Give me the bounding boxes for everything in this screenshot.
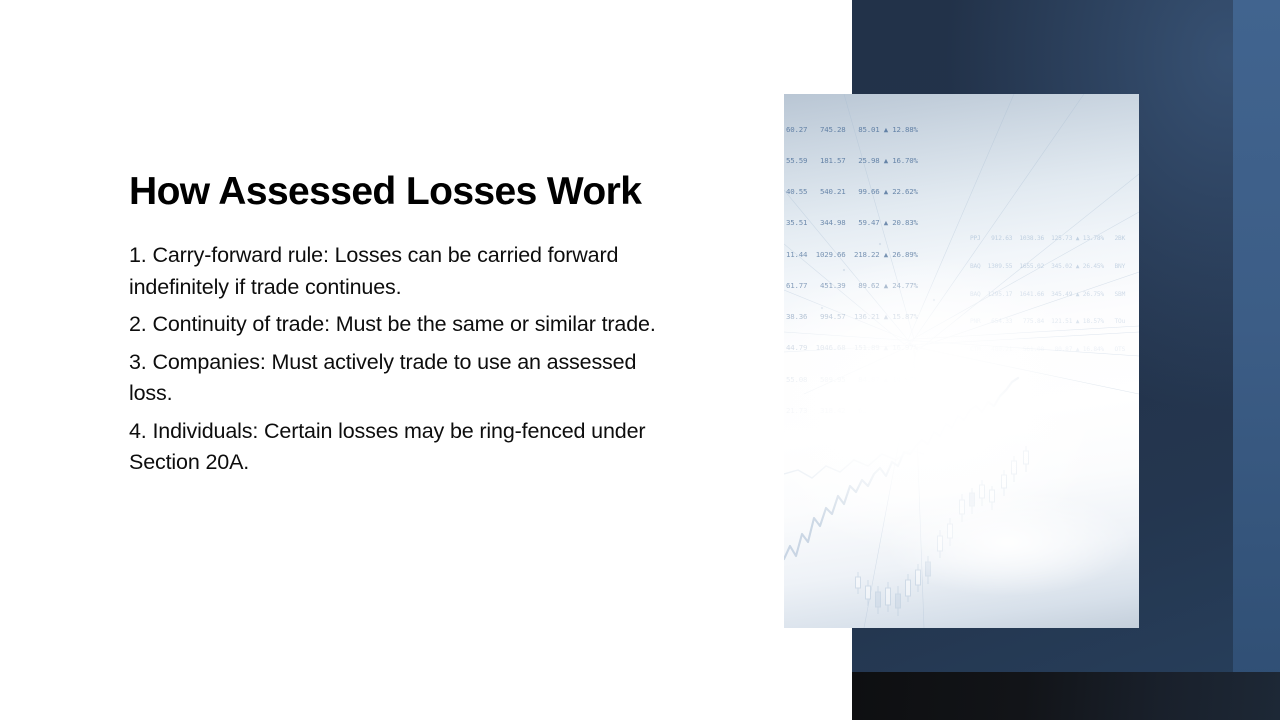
ticker-row: PPJ 912.63 1038.36 125.73 ▲ 13.78% 2BK	[970, 234, 1125, 243]
slide: 60.27 745.28 85.01 ▲ 12.88% 55.59 181.57…	[0, 0, 1280, 720]
ticker-row: 61.77 451.39 89.62 ▲ 24.77%	[786, 281, 918, 291]
panel-bottom-band	[852, 672, 1280, 720]
ticker-row: BAQ 1309.55 1655.02 345.02 ▲ 26.45% BNY	[970, 262, 1125, 271]
ticker-row: BAQ 1295.17 1641.66 345.49 ▲ 26.75% SBM	[970, 290, 1125, 299]
ticker-row: PNR 654.33 775.84 121.51 ▲ 18.57% TOu	[970, 317, 1125, 326]
bullet-list: 1. Carry-forward rule: Losses can be car…	[129, 240, 689, 479]
ticker-row: 40.55 540.21 99.66 ▲ 22.62%	[786, 187, 918, 197]
ticker-row: 44.79 1046.68 151.89 ▲ 16.97%	[786, 343, 918, 353]
ticker-table-primary: 60.27 745.28 85.01 ▲ 12.88% 55.59 181.57…	[786, 104, 918, 437]
ticker-row: 55.08 509.95 84.87 ▲ 14.97%	[786, 375, 918, 385]
list-item: 3. Companies: Must actively trade to use…	[129, 347, 674, 410]
financial-market-photo: 60.27 745.28 85.01 ▲ 12.88% 55.59 181.57…	[784, 94, 1139, 628]
page-title: How Assessed Losses Work	[129, 168, 689, 216]
ticker-table-secondary: PPJ 912.63 1038.36 125.73 ▲ 13.78% 2BK B…	[970, 216, 1125, 372]
ticker-row: CTM 480.21 561.08 80.87 ▲ 16.84% OTS	[970, 345, 1125, 354]
ticker-row: 60.27 745.28 85.01 ▲ 12.88%	[786, 125, 918, 135]
ticker-row: 35.51 344.98 59.47 ▲ 20.83%	[786, 218, 918, 228]
ticker-row: 55.59 181.57 25.98 ▲ 16.70%	[786, 156, 918, 166]
ticker-row: 21.73 318.42 62.04 ▲ 11.23%	[786, 406, 918, 416]
list-item: 2. Continuity of trade: Must be the same…	[129, 309, 674, 341]
ticker-row: 38.36 994.57 136.21 ▲ 15.87%	[786, 312, 918, 322]
list-item: 1. Carry-forward rule: Losses can be car…	[129, 240, 674, 303]
panel-accent-strip	[1233, 0, 1280, 720]
slide-content: How Assessed Losses Work 1. Carry-forwar…	[129, 168, 689, 485]
ticker-row: 11.44 1029.66 218.22 ▲ 26.89%	[786, 250, 918, 260]
list-item: 4. Individuals: Certain losses may be ri…	[129, 416, 674, 479]
